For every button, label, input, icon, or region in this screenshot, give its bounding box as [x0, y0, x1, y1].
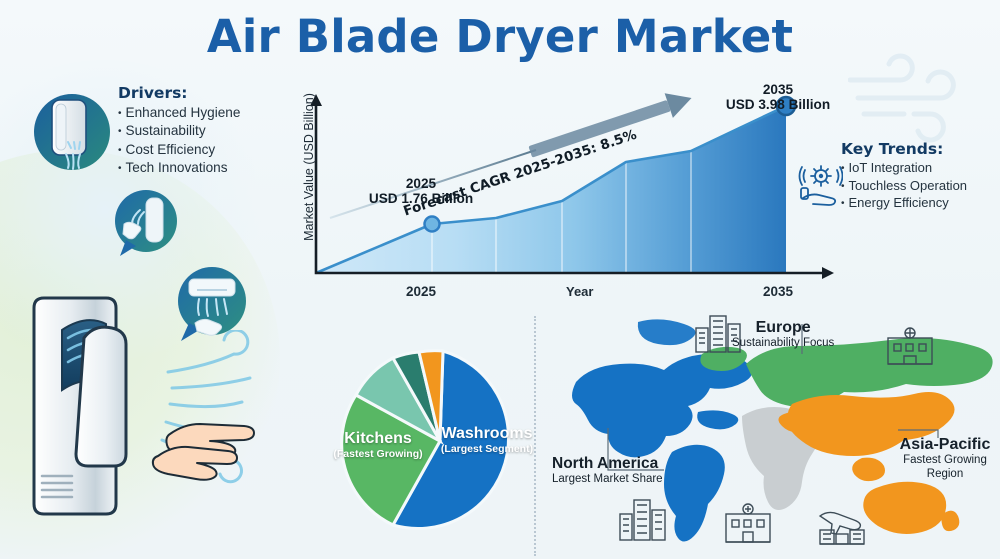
- map-label-europe: Europe Sustainability Focus: [732, 319, 834, 349]
- drivers-item: Sustainability: [118, 122, 303, 140]
- pie-label-kitchens-note: (Fastest Growing): [318, 448, 438, 460]
- key-trends-item: Touchless Operation: [841, 178, 1000, 196]
- infographic-root: Air Blade Dryer Market: [0, 0, 1000, 559]
- key-trends-panel: Key Trends: IoT Integration Touchless Op…: [841, 140, 1000, 213]
- pie-label-washrooms: Washrooms (Largest Segment): [422, 425, 552, 455]
- x-tick-2025: 2025: [406, 284, 436, 299]
- government-building-icon: [886, 326, 934, 366]
- wall-hand-dryer-badge-icon: [30, 90, 115, 175]
- office-buildings-icon: [618, 498, 668, 542]
- drivers-panel: Drivers: Enhanced Hygiene Sustainability…: [118, 84, 303, 178]
- pie-label-washrooms-name: Washrooms: [422, 425, 552, 443]
- end-point-year: 2035: [698, 82, 858, 97]
- key-trends-item: Energy Efficiency: [841, 195, 1000, 213]
- hospital-building-icon: [724, 502, 772, 544]
- key-trends-item: IoT Integration: [841, 160, 1000, 178]
- segment-pie-chart: Washrooms (Largest Segment) Kitchens (Fa…: [330, 330, 550, 552]
- page-title: Air Blade Dryer Market: [0, 10, 1000, 63]
- map-label-asia-pacific-name: Asia-Pacific: [892, 436, 998, 454]
- pie-label-kitchens: Kitchens (Fastest Growing): [318, 430, 438, 460]
- drivers-list: Enhanced Hygiene Sustainability Cost Eff…: [118, 104, 303, 178]
- x-tick-2035: 2035: [763, 284, 793, 299]
- market-value-area-chart: Market Value (USD Billion) Year 2025 203…: [286, 78, 856, 310]
- pie-label-kitchens-name: Kitchens: [318, 430, 438, 448]
- airport-plane-icon: [818, 502, 866, 546]
- y-axis-label: Market Value (USD Billion): [302, 82, 316, 252]
- key-trends-heading: Key Trends:: [841, 140, 1000, 158]
- map-label-europe-note: Sustainability Focus: [732, 337, 834, 349]
- pie-label-washrooms-note: (Largest Segment): [422, 443, 552, 455]
- hand-under-dryer-bubble-icon: [110, 188, 182, 260]
- key-trends-list: IoT Integration Touchless Operation Ener…: [841, 160, 1000, 213]
- map-label-north-america-name: North America: [552, 455, 663, 473]
- regional-world-map: North America Largest Market Share Europ…: [546, 312, 1000, 559]
- start-data-point: [425, 217, 440, 232]
- map-label-asia-pacific-note: Fastest Growing Region: [892, 454, 998, 481]
- drivers-item: Cost Efficiency: [118, 141, 303, 159]
- map-label-europe-name: Europe: [732, 319, 834, 337]
- map-label-asia-pacific: Asia-Pacific Fastest Growing Region: [892, 436, 998, 481]
- drivers-item: Tech Innovations: [118, 159, 303, 177]
- x-axis-label: Year: [566, 284, 593, 299]
- map-label-north-america-note: Largest Market Share: [552, 473, 663, 485]
- end-point-label: 2035 USD 3.98 Billion: [698, 82, 858, 112]
- map-region-south-america: [664, 445, 725, 542]
- drivers-item: Enhanced Hygiene: [118, 104, 303, 122]
- map-label-north-america: North America Largest Market Share: [552, 455, 663, 485]
- hands-illustration: [140, 400, 270, 495]
- wind-swirl-decoration-icon: [848, 52, 998, 144]
- end-point-value: USD 3.98 Billion: [698, 97, 858, 112]
- drivers-heading: Drivers:: [118, 84, 303, 102]
